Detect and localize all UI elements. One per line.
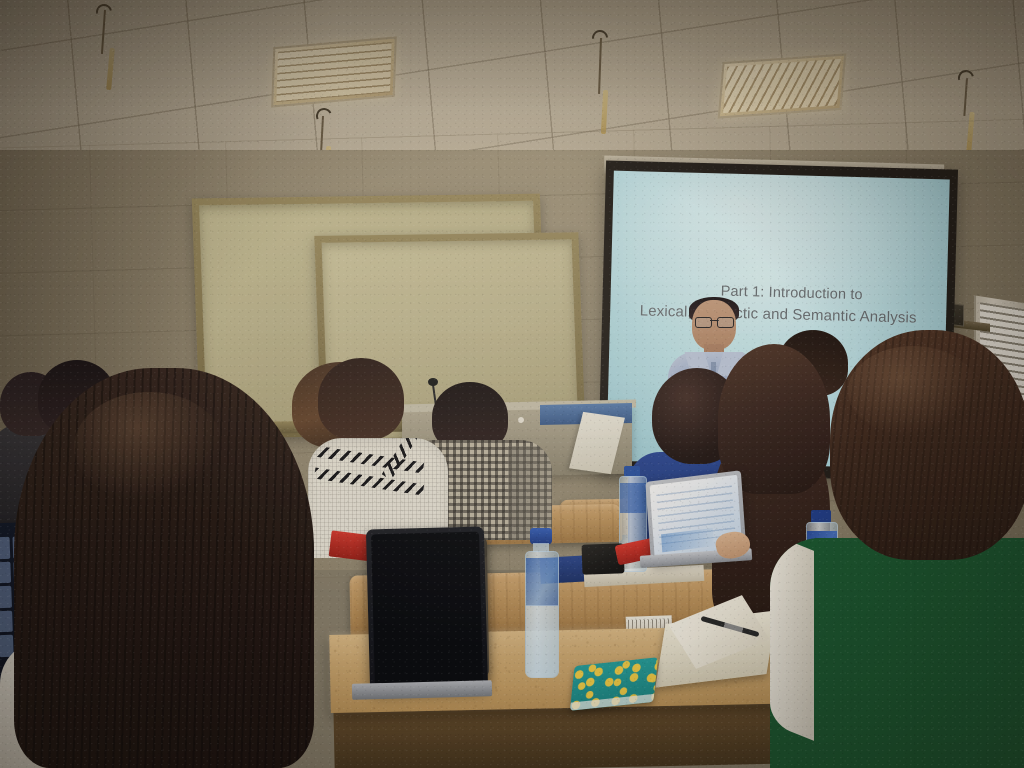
bottle-label — [620, 483, 646, 513]
foreground-plaid-shirt-body — [770, 538, 1024, 768]
hair-highlight — [848, 346, 978, 436]
microphone-icon — [428, 378, 438, 386]
laptop-bezel — [371, 532, 483, 687]
bottle-body — [525, 551, 559, 678]
jacket-sleeve — [508, 446, 552, 540]
foreground-left-long-hair — [14, 368, 314, 768]
bottle-cap — [530, 528, 552, 544]
audience-sweater-head — [318, 358, 404, 440]
lectern-knob — [518, 417, 524, 423]
water-bottle-front — [524, 528, 558, 676]
hair-highlight — [74, 392, 224, 502]
bottle-water — [526, 605, 558, 677]
lecture-hall-photo: Part 1: Introduction to Lexical, Syntact… — [0, 0, 1024, 768]
plaid-shirt-collar — [770, 538, 814, 741]
foreground-plaid-shirt-head — [830, 330, 1024, 560]
laptop-closed-dark — [366, 526, 488, 691]
phone-with-duck-case — [570, 657, 658, 711]
bottle-label — [526, 558, 558, 606]
glasses-icon — [695, 317, 734, 326]
